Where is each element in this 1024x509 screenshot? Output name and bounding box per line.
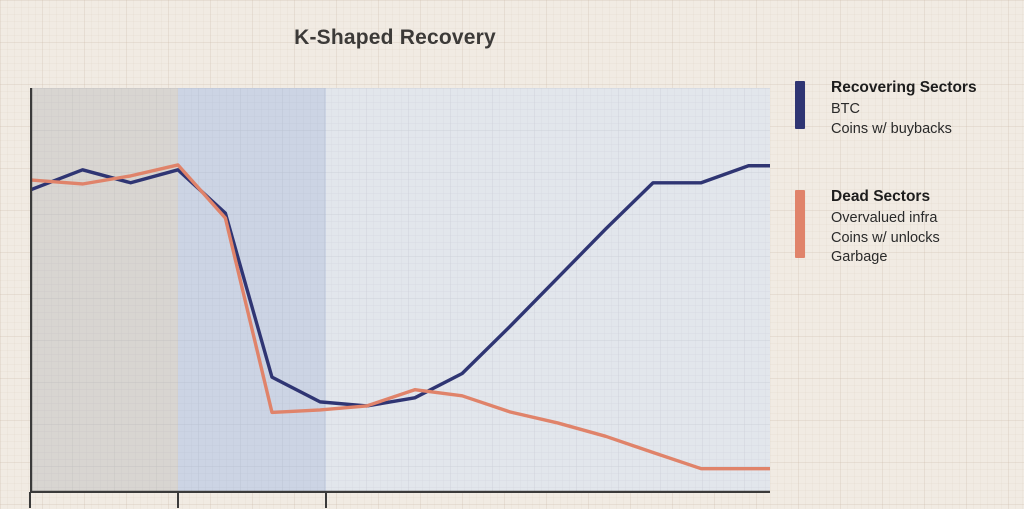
coarse-grid: [30, 88, 770, 493]
line-chart-svg: [30, 88, 770, 493]
legend-group-dead: Dead Sectors Overvalued infra Coins w/ u…: [795, 187, 1015, 268]
chart-legend: Recovering Sectors BTC Coins w/ buybacks…: [795, 78, 1015, 294]
chart-plot-area: [30, 88, 770, 493]
legend-swatch-dead: [795, 190, 805, 258]
x-axis-tick-0: [29, 492, 31, 508]
page-background: K-Shaped Recovery Recovering Sectors: [0, 0, 1024, 509]
legend-heading-recovering: Recovering Sectors: [831, 78, 1015, 98]
legend-item-coins-unlocks: Coins w/ unlocks: [831, 229, 1015, 249]
legend-item-btc: BTC: [831, 100, 1015, 120]
legend-item-overvalued-infra: Overvalued infra: [831, 209, 1015, 229]
legend-item-garbage: Garbage: [831, 248, 1015, 268]
page-title: K-Shaped Recovery: [0, 26, 790, 50]
legend-group-recovering: Recovering Sectors BTC Coins w/ buybacks: [795, 78, 1015, 139]
x-axis-tick-2: [325, 492, 327, 508]
legend-item-coins-buybacks: Coins w/ buybacks: [831, 120, 1015, 140]
legend-heading-dead: Dead Sectors: [831, 187, 1015, 207]
x-axis-tick-1: [177, 492, 179, 508]
legend-swatch-recovering: [795, 81, 805, 129]
